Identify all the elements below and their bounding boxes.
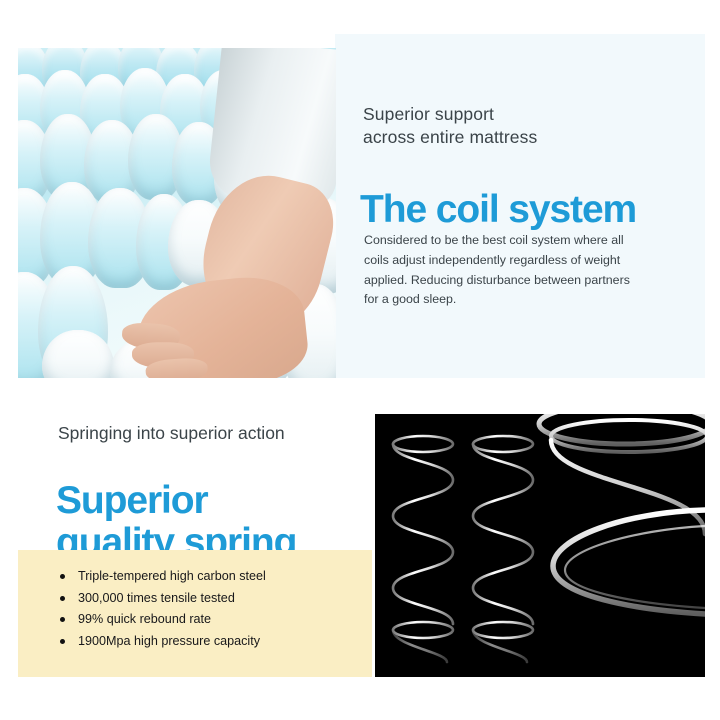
spring-eyebrow: Springing into superior action [58, 422, 358, 445]
pocket-spring-mattress-image [18, 48, 336, 378]
coil-eyebrow: Superior support across entire mattress [363, 103, 693, 149]
coil-springs-image [375, 414, 705, 677]
spring-title-line1: Superior [56, 480, 376, 522]
spring-specs-panel: Triple-tempered high carbon steel 300,00… [18, 550, 372, 677]
coil-eyebrow-line2: across entire mattress [363, 126, 693, 149]
list-item: 99% quick rebound rate [58, 609, 358, 631]
coil-springs-illustration [375, 414, 705, 677]
section-coil-system: Superior support across entire mattress … [0, 0, 720, 378]
list-item: 1900Mpa high pressure capacity [58, 631, 358, 653]
coil-system-body: Considered to be the best coil system wh… [364, 231, 632, 309]
product-feature-page: Superior support across entire mattress … [0, 0, 720, 720]
list-item: 300,000 times tensile tested [58, 588, 358, 610]
coil-eyebrow-line1: Superior support [363, 103, 693, 126]
coil-system-title: The coil system [360, 188, 700, 232]
list-item: Triple-tempered high carbon steel [58, 566, 358, 588]
spring-specs-list: Triple-tempered high carbon steel 300,00… [58, 566, 358, 652]
section-quality-spring: Springing into superior action Superior … [0, 400, 720, 690]
